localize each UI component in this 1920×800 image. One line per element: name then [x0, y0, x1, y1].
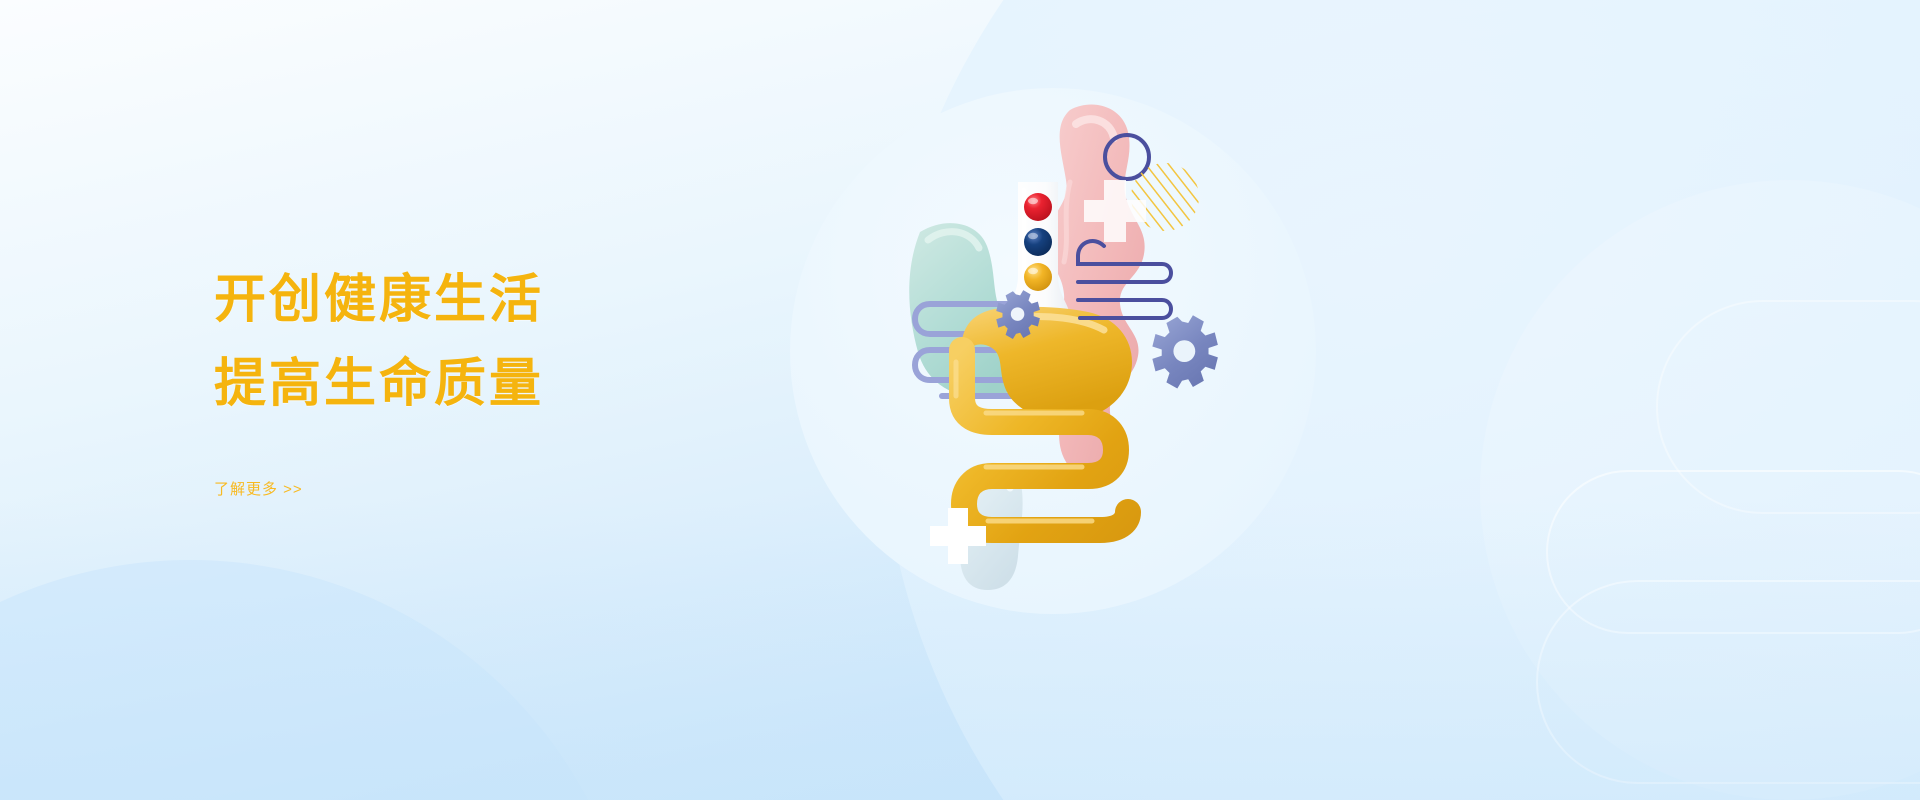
background-pipe-mid	[1546, 470, 1920, 634]
digestive-system-illustration	[770, 50, 1330, 610]
background-pipe-lower	[1536, 580, 1920, 784]
hero-copy: 开创健康生活 提高生命质量 了解更多 >>	[214, 258, 834, 499]
pill-red	[1024, 193, 1052, 221]
background-circle-bottom-left	[0, 560, 640, 800]
pill-navy	[1024, 228, 1052, 256]
headline-line-2: 提高生命质量	[214, 342, 834, 426]
background-soft-oval	[1480, 180, 1920, 800]
gear-large-icon	[1152, 315, 1218, 388]
headline-line-1: 开创健康生活	[214, 258, 834, 342]
illustration-svg	[770, 50, 1330, 610]
background-pipe-upper	[1656, 300, 1920, 514]
learn-more-link[interactable]: 了解更多 >>	[214, 478, 303, 499]
hero-banner: 开创健康生活 提高生命质量 了解更多 >>	[0, 0, 1920, 800]
pill-amber	[1024, 263, 1052, 291]
